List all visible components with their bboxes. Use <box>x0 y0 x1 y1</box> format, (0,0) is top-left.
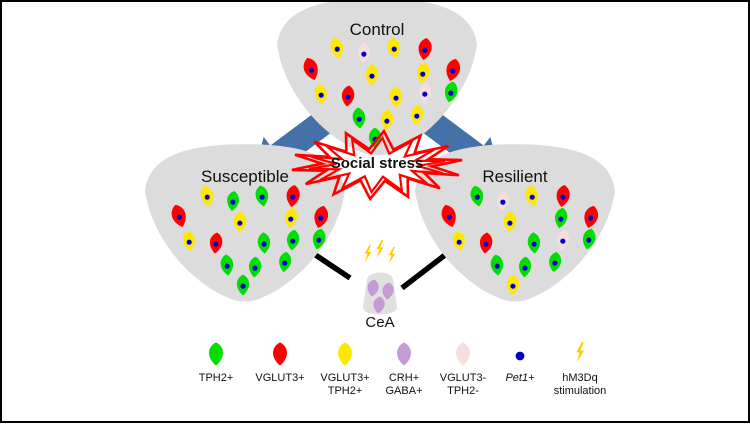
legend-label-line2: stimulation <box>530 385 630 398</box>
legend-label-hm3dq: hM3Dqstimulation <box>530 372 630 398</box>
cea-bolt-1 <box>377 240 384 258</box>
cea-bolt-2 <box>389 247 395 264</box>
cea-layer <box>363 240 397 315</box>
legend-marker-hm3dq <box>576 342 584 363</box>
legend-marker-crh-gaba <box>397 342 411 365</box>
diagram-canvas <box>2 2 750 425</box>
legend-marker-pet1-pos <box>516 352 525 361</box>
figure-root: Control Susceptible Resilient Social str… <box>0 0 750 423</box>
cell-nucleus-pet1 <box>240 284 245 289</box>
cea-bolt-0 <box>365 245 371 262</box>
legend-label-line2: TPH2- <box>413 385 513 398</box>
cell-nucleus-pet1 <box>510 284 515 289</box>
legend-label-line1: hM3Dq <box>530 372 630 385</box>
group-label-control: Control <box>237 20 517 39</box>
legend-marker-vglut3-neg <box>456 342 470 365</box>
cea-label: CeA <box>240 315 520 332</box>
legend-marker-vglut3-pos <box>273 342 287 365</box>
tissue-layer <box>145 2 615 302</box>
excitation-shaft <box>402 251 451 288</box>
social-stress-label: Social stress <box>237 156 517 173</box>
legend-marker-tph2-pos <box>209 342 223 365</box>
legend-marker-layer <box>209 342 584 366</box>
legend-marker-vglut3-tph2 <box>338 342 352 365</box>
